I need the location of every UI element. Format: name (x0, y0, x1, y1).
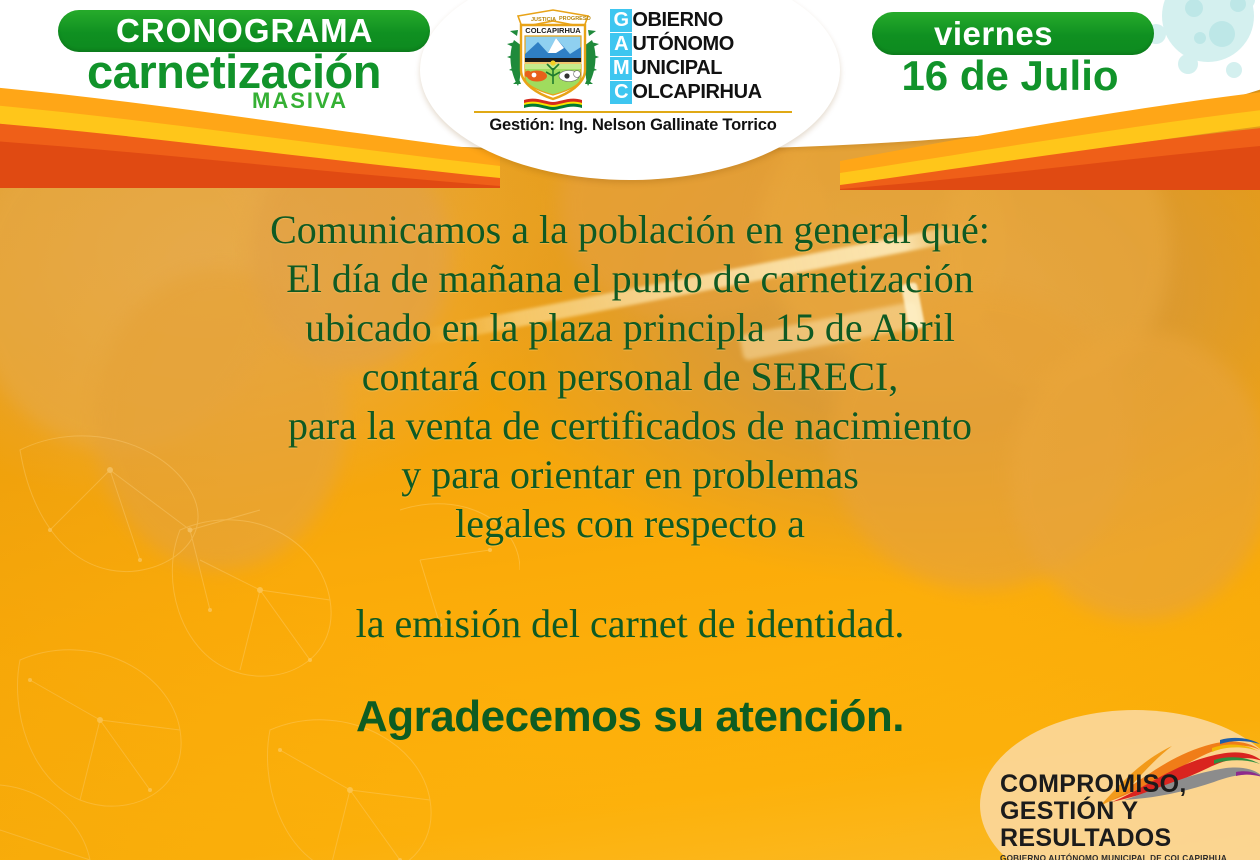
pill-viernes-label: viernes (934, 15, 1053, 53)
gamc-words-column: OBIERNO UTÓNOMO UNICIPAL OLCAPIRHUA (632, 9, 761, 105)
svg-text:PROGRESO: PROGRESO (559, 16, 592, 22)
svg-text:JUSTICIA: JUSTICIA (531, 17, 556, 23)
gamc-acronym-column: G A M C (610, 9, 632, 105)
body-line: contará con personal de SERECI, (0, 352, 1260, 401)
date-label: 16 de Julio (860, 52, 1160, 100)
institutional-logo: JUSTICIA PROGRESO COLCAPIRHUA (448, 6, 818, 136)
body-line: legales con respecto a (0, 499, 1260, 548)
acronym-letter-a: A (610, 33, 632, 56)
poster-canvas: CRONOGRAMA carnetización MASIVA viernes … (0, 0, 1260, 860)
acronym-letter-m: M (610, 57, 632, 80)
body-line: El día de mañana el punto de carnetizaci… (0, 254, 1260, 303)
gamc-word-gobierno: OBIERNO (632, 9, 761, 32)
gamc-word-autonomo: UTÓNOMO (632, 33, 761, 56)
acronym-letter-c: C (610, 81, 632, 104)
gamc-word-colcapirhua: OLCAPIRHUA (632, 81, 761, 104)
body-line-emision: la emisión del carnet de identidad. (0, 600, 1260, 647)
body-line: ubicado en la plaza principla 15 de Abri… (0, 303, 1260, 352)
body-line: Comunicamos a la población en general qu… (0, 205, 1260, 254)
announcement-body: Comunicamos a la población en general qu… (0, 205, 1260, 548)
pill-viernes: viernes (872, 12, 1154, 55)
footer-line-entidad: GOBIERNO AUTÓNOMO MUNICIPAL DE COLCAPIRH… (1000, 853, 1250, 860)
body-line: para la venta de certificados de nacimie… (0, 401, 1260, 450)
acronym-letter-g: G (610, 9, 632, 32)
gestion-label: Gestión: Ing. Nelson Gallinate Torrico (489, 116, 776, 135)
footer-line-gestion: GESTIÓN Y RESULTADOS (1000, 798, 1250, 852)
footer-line-compromiso: COMPROMISO, (1000, 771, 1250, 798)
svg-text:COLCAPIRHUA: COLCAPIRHUA (526, 26, 582, 35)
gamc-word-municipal: UNICIPAL (632, 57, 761, 80)
body-line: y para orientar en problemas (0, 450, 1260, 499)
gamc-wordmark: G A M C OBIERNO UTÓNOMO UNICIPAL OLCAPIR… (610, 6, 761, 105)
footer-logo-text: COMPROMISO, GESTIÓN Y RESULTADOS GOBIERN… (1000, 771, 1250, 860)
footer-logo: COMPROMISO, GESTIÓN Y RESULTADOS GOBIERN… (980, 712, 1260, 860)
coat-of-arms-icon: JUSTICIA PROGRESO COLCAPIRHUA (504, 6, 602, 112)
subtitle-masiva: MASIVA (180, 88, 420, 114)
